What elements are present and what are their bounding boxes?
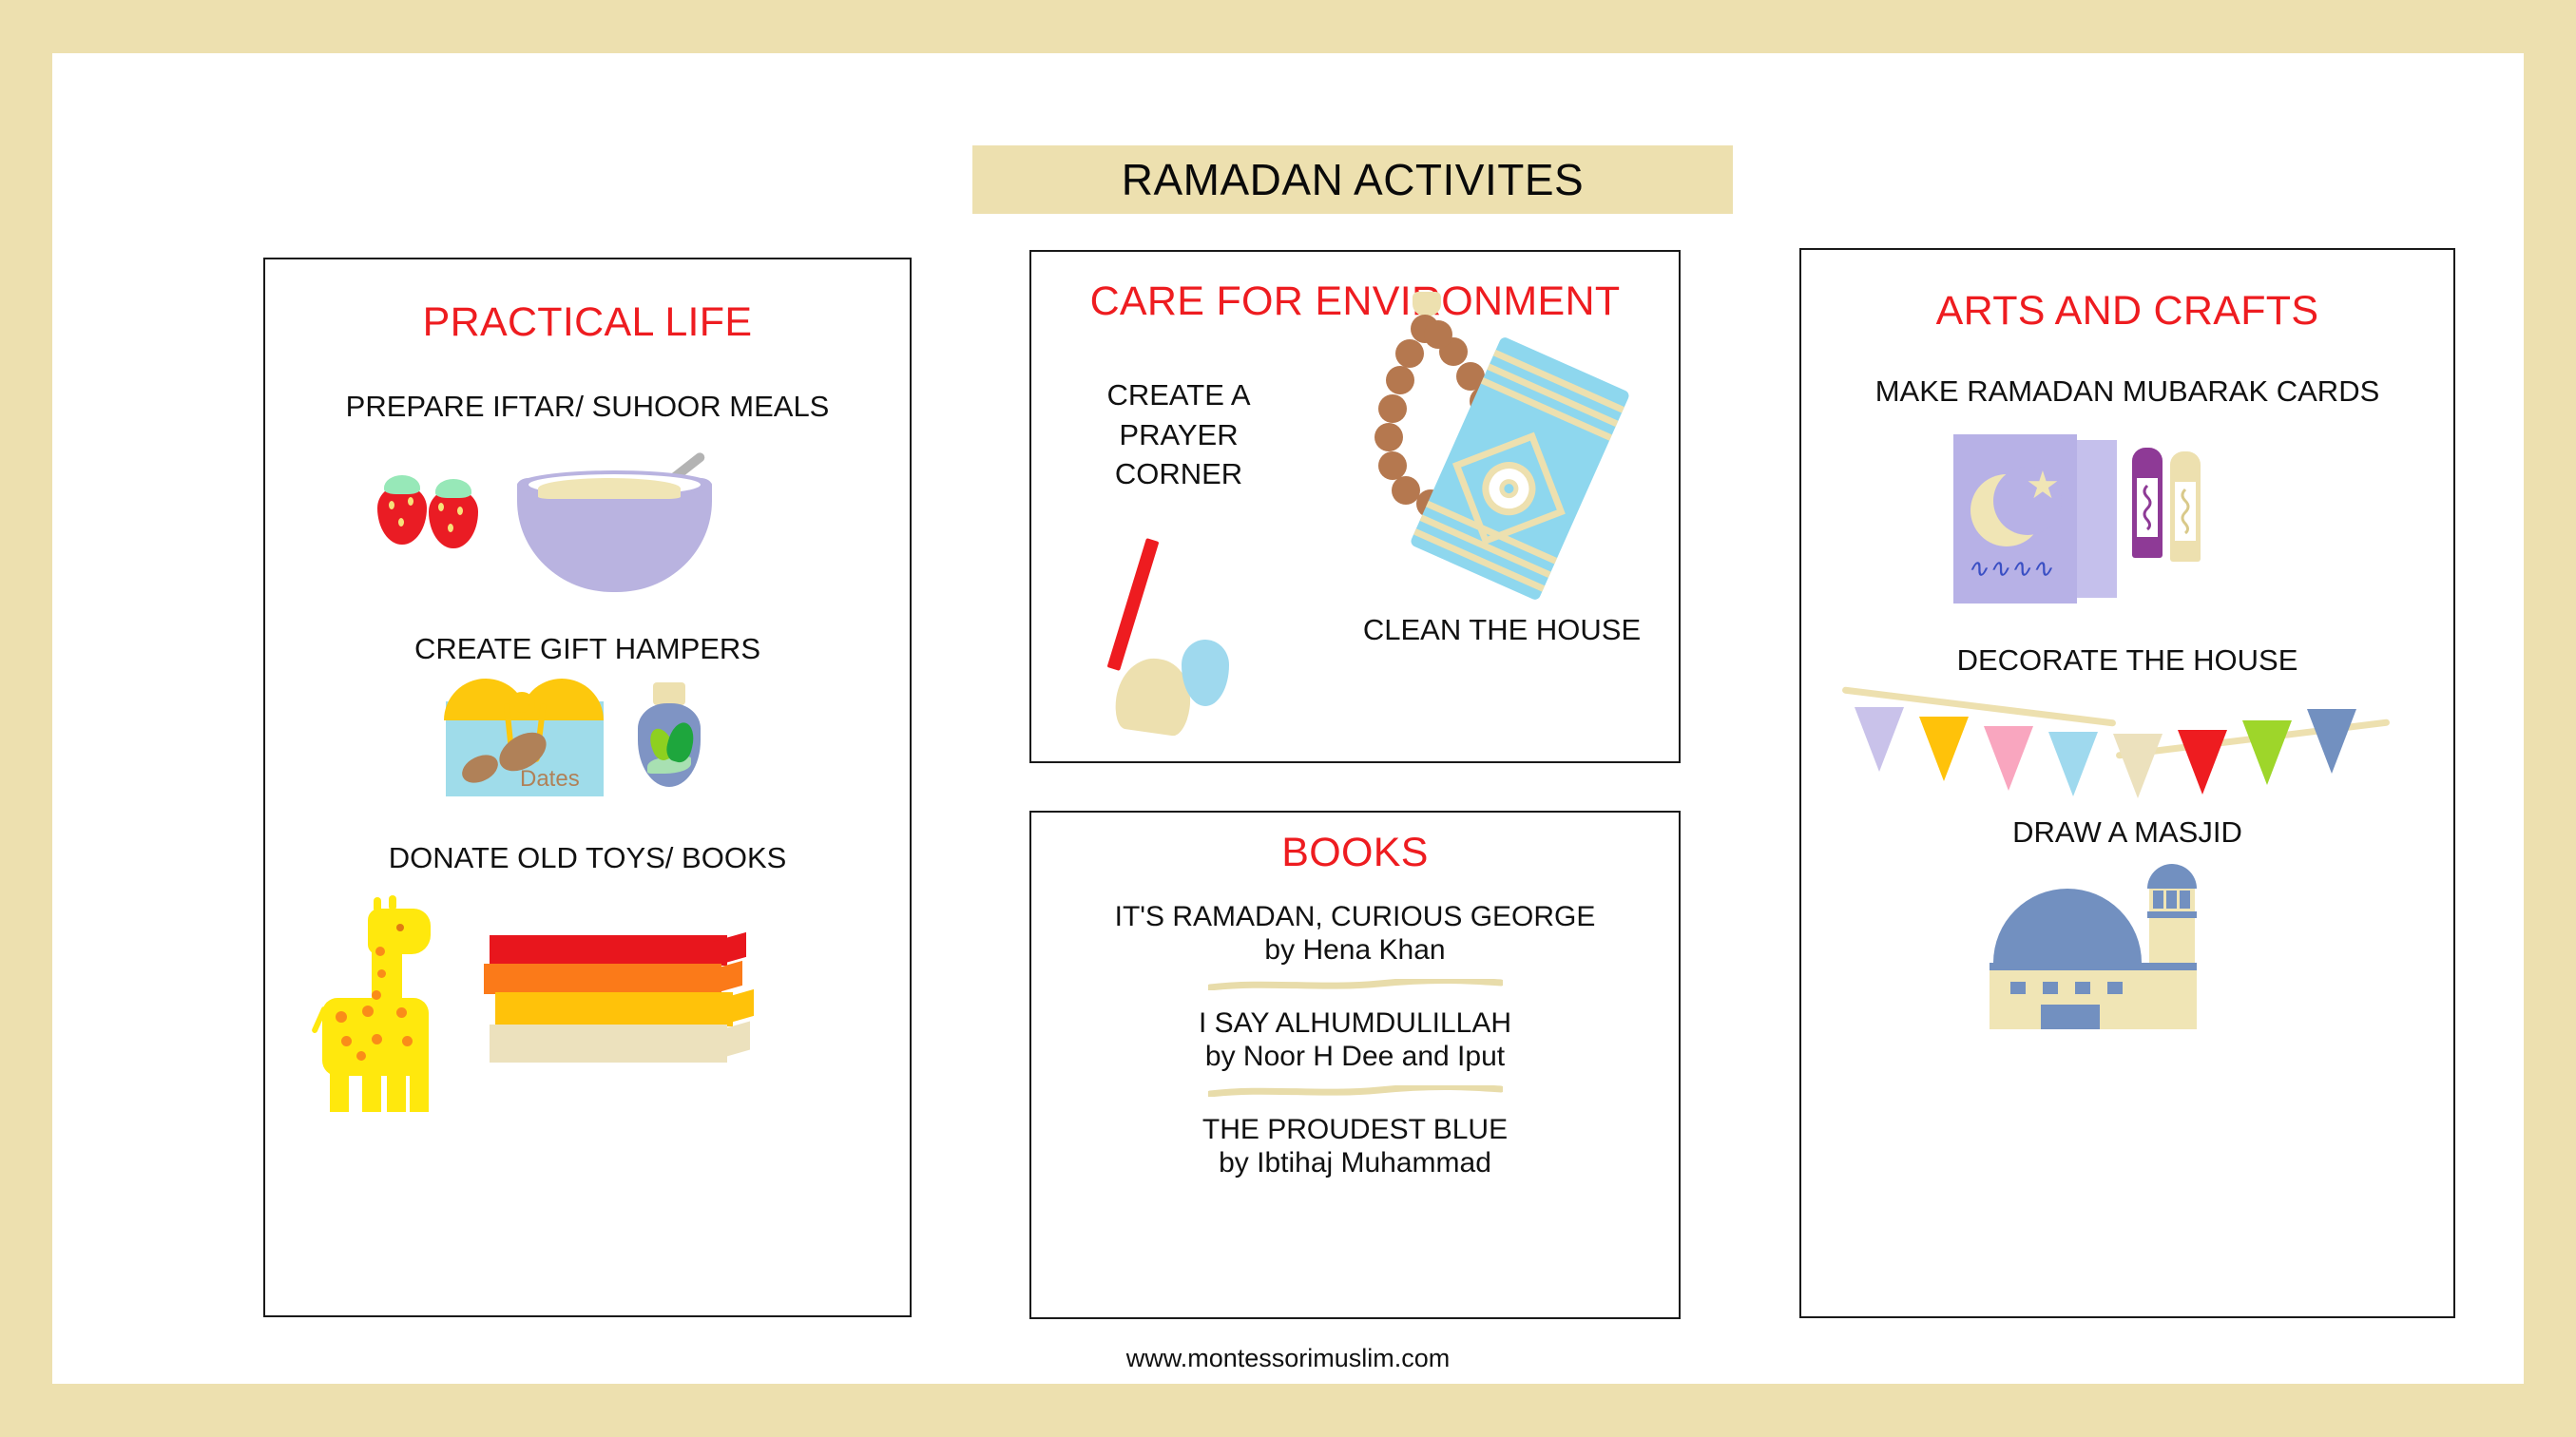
bunting-flag xyxy=(1919,717,1969,781)
squiggle-divider-icon xyxy=(1208,1085,1503,1097)
broom-icon xyxy=(1109,537,1328,746)
panel-books: BOOKS IT'S RAMADAN, CURIOUS GEORGE by He… xyxy=(1029,811,1681,1319)
activity-label-clean-house: CLEAN THE HOUSE xyxy=(1359,613,1644,647)
illustration-masjid xyxy=(1801,864,2453,1035)
book-title: I SAY ALHUMDULILLAH xyxy=(1031,1007,1679,1041)
activity-label-mubarak-cards: MAKE RAMADAN MUBARAK CARDS xyxy=(1801,374,2453,408)
book-list-item: I SAY ALHUMDULILLAH by Noor H Dee and Ip… xyxy=(1031,1007,1679,1073)
book-stack-icon xyxy=(484,935,759,1078)
book-author: by Ibtihaj Muhammad xyxy=(1031,1147,1679,1180)
bunting-flag xyxy=(2113,734,2163,798)
prayer-corner-line-1: CREATE A PRAYER xyxy=(1050,375,1307,454)
activity-label-gift-hampers: CREATE GIFT HAMPERS xyxy=(265,632,910,665)
activity-label-prepare-meals: PREPARE IFTAR/ SUHOOR MEALS xyxy=(265,390,910,423)
activity-label-donate-toys: DONATE OLD TOYS/ BOOKS xyxy=(265,841,910,874)
bunting-flag xyxy=(1984,726,2033,791)
star-icon: ★ xyxy=(2026,467,2060,505)
panel-arts-and-crafts: ARTS AND CRAFTS MAKE RAMADAN MUBARAK CAR… xyxy=(1799,248,2455,1318)
dates-label: Dates xyxy=(520,766,580,793)
dates-box-icon: Dates xyxy=(438,679,609,798)
panel-title-practical-life: PRACTICAL LIFE xyxy=(265,299,910,346)
strawberry-icon xyxy=(377,486,427,545)
masjid-icon xyxy=(1990,864,2227,1030)
card-script-text: ∿∿∿∿ xyxy=(1967,554,2053,584)
porridge-bowl-icon xyxy=(517,457,721,590)
illustration-strawberries-and-bowl xyxy=(265,436,910,588)
card-back-panel xyxy=(2071,440,2117,598)
activity-label-draw-masjid: DRAW A MASJID xyxy=(1801,815,2453,849)
illustration-greeting-card: ★ ∿∿∿∿ xyxy=(1801,419,2453,609)
panel-title-arts-and-crafts: ARTS AND CRAFTS xyxy=(1801,288,2453,335)
bunting-flag xyxy=(2307,709,2356,774)
panel-care-for-environment: CARE FOR ENVIRONMENT CREATE A PRAYER COR… xyxy=(1029,250,1681,763)
illustration-dates-and-bottle: Dates xyxy=(265,677,910,798)
activity-label-prayer-corner: CREATE A PRAYER CORNER xyxy=(1050,375,1307,494)
bunting-flag xyxy=(2048,732,2098,796)
activity-label-decorate-house: DECORATE THE HOUSE xyxy=(1801,643,2453,677)
book-author: by Hena Khan xyxy=(1031,934,1679,968)
bunting-flag xyxy=(1855,707,1904,772)
greeting-card-icon: ★ ∿∿∿∿ xyxy=(1953,434,2077,604)
prayer-mat-icon xyxy=(1450,354,1640,640)
oil-bottle-icon xyxy=(638,682,720,796)
illustration-giraffe-and-books xyxy=(265,884,910,1079)
page-title: RAMADAN ACTIVITES xyxy=(1122,154,1584,205)
crayon-icon xyxy=(2170,451,2201,562)
crayon-icon xyxy=(2132,448,2163,558)
giraffe-toy-icon xyxy=(309,895,480,1078)
prayer-corner-line-2: CORNER xyxy=(1050,454,1307,494)
book-title: THE PROUDEST BLUE xyxy=(1031,1114,1679,1147)
book-list-item: THE PROUDEST BLUE by Ibtihaj Muhammad xyxy=(1031,1114,1679,1179)
panel-title-books: BOOKS xyxy=(1031,830,1679,876)
poster-card: RAMADAN ACTIVITES PRACTICAL LIFE PREPARE… xyxy=(52,53,2524,1384)
footer-url: www.montessorimuslim.com xyxy=(52,1344,2524,1373)
bunting-flag xyxy=(2178,730,2227,795)
illustration-bunting-flags xyxy=(1801,690,2453,777)
book-title: IT'S RAMADAN, CURIOUS GEORGE xyxy=(1031,901,1679,934)
poster-title-banner: RAMADAN ACTIVITES xyxy=(972,145,1733,214)
panel-practical-life: PRACTICAL LIFE PREPARE IFTAR/ SUHOOR MEA… xyxy=(263,258,912,1317)
bunting-flag xyxy=(2242,720,2292,785)
panel-title-care-for-environment: CARE FOR ENVIRONMENT xyxy=(1031,278,1679,325)
strawberry-icon xyxy=(429,489,478,548)
book-list-item: IT'S RAMADAN, CURIOUS GEORGE by Hena Kha… xyxy=(1031,901,1679,967)
book-author: by Noor H Dee and Iput xyxy=(1031,1041,1679,1074)
squiggle-divider-icon xyxy=(1208,979,1503,990)
